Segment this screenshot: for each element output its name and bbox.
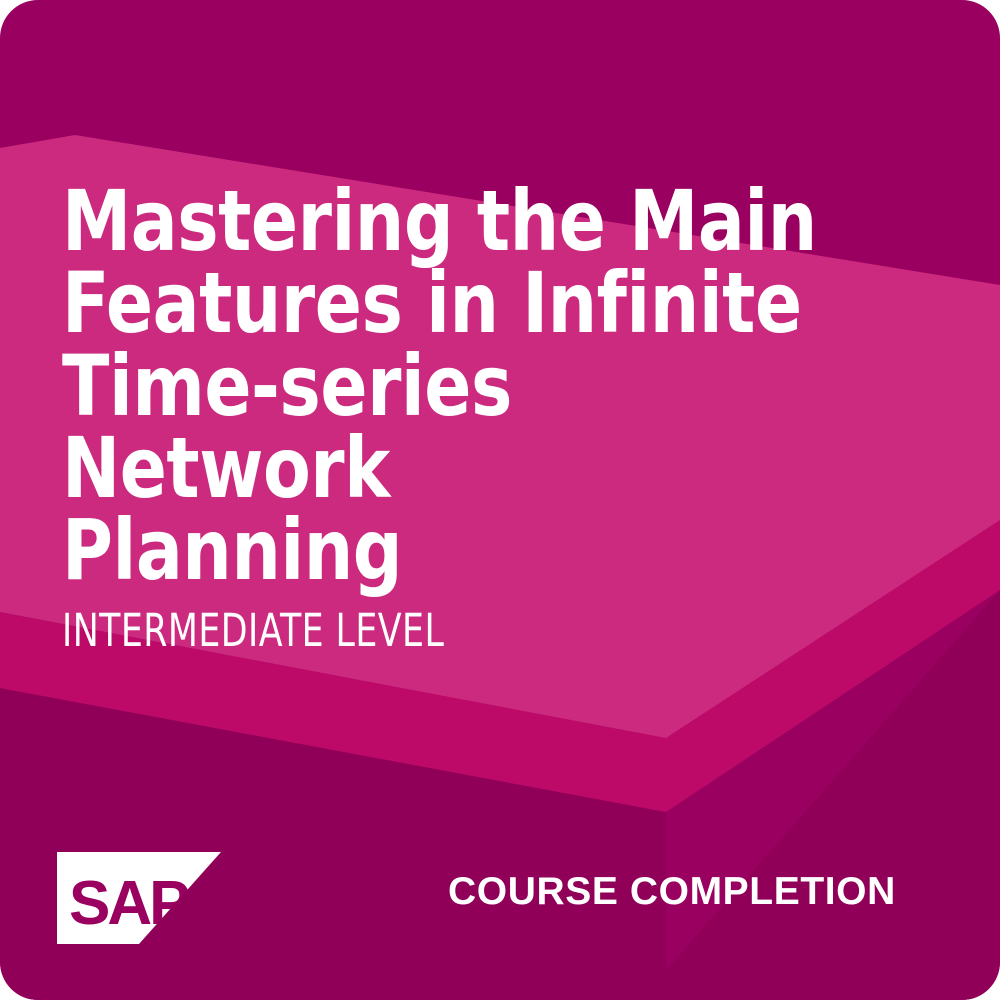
card-text-block: Mastering the Main Features in Infinite … [62,180,892,653]
status-badge: COURSE COMPLETION [448,872,896,911]
course-level-label: INTERMEDIATE LEVEL [62,608,776,653]
page-title: Mastering the Main Features in Infinite … [62,180,826,592]
sap-logo-icon: SAP [57,852,221,944]
slab-shadow-left-shape [0,688,666,1000]
course-completion-card: Mastering the Main Features in Infinite … [0,0,1000,1000]
sap-logo-wordmark: SAP [69,869,189,938]
